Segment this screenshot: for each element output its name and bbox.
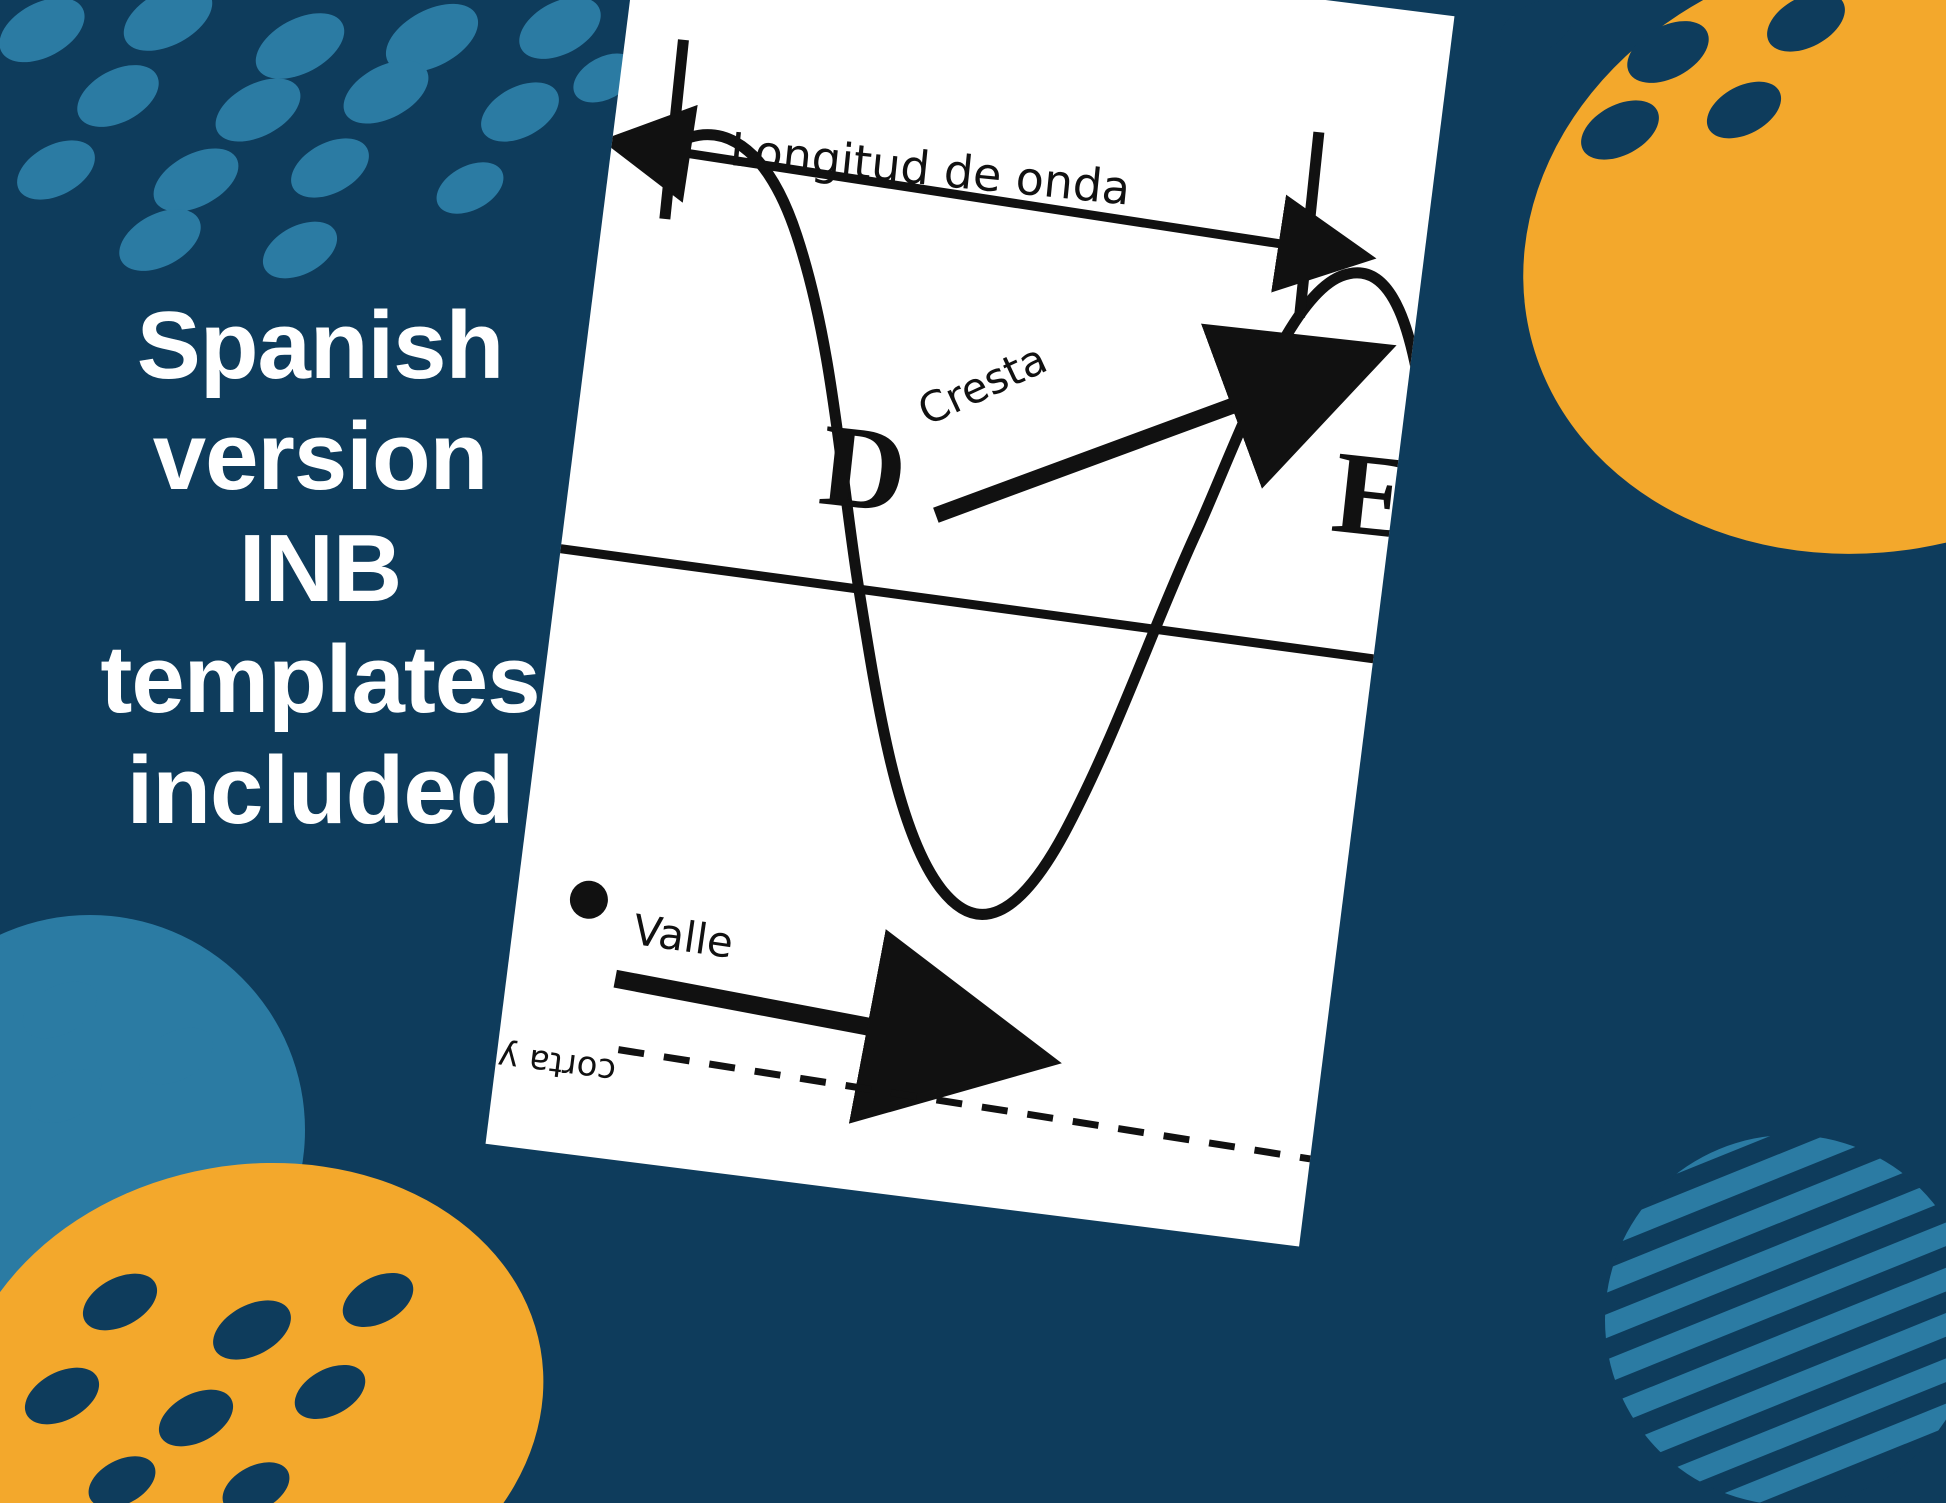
bullet-dot [568, 879, 610, 921]
horizontal-axis-line [530, 545, 1414, 664]
letter-marker-left: D [814, 397, 913, 541]
paper-content: Longitud de onda Cresta Valle D E corta … [486, 0, 1455, 1246]
worksheet-paper: Longitud de onda Cresta Valle D E corta … [486, 0, 1455, 1246]
dashed-cut-line [616, 1050, 1323, 1161]
paper-surface: Longitud de onda Cresta Valle D E corta … [486, 0, 1455, 1246]
sine-wave [571, 129, 1452, 963]
trough-arrow [613, 979, 905, 1033]
poster-canvas: Spanish version INB templates included [0, 0, 1946, 1503]
